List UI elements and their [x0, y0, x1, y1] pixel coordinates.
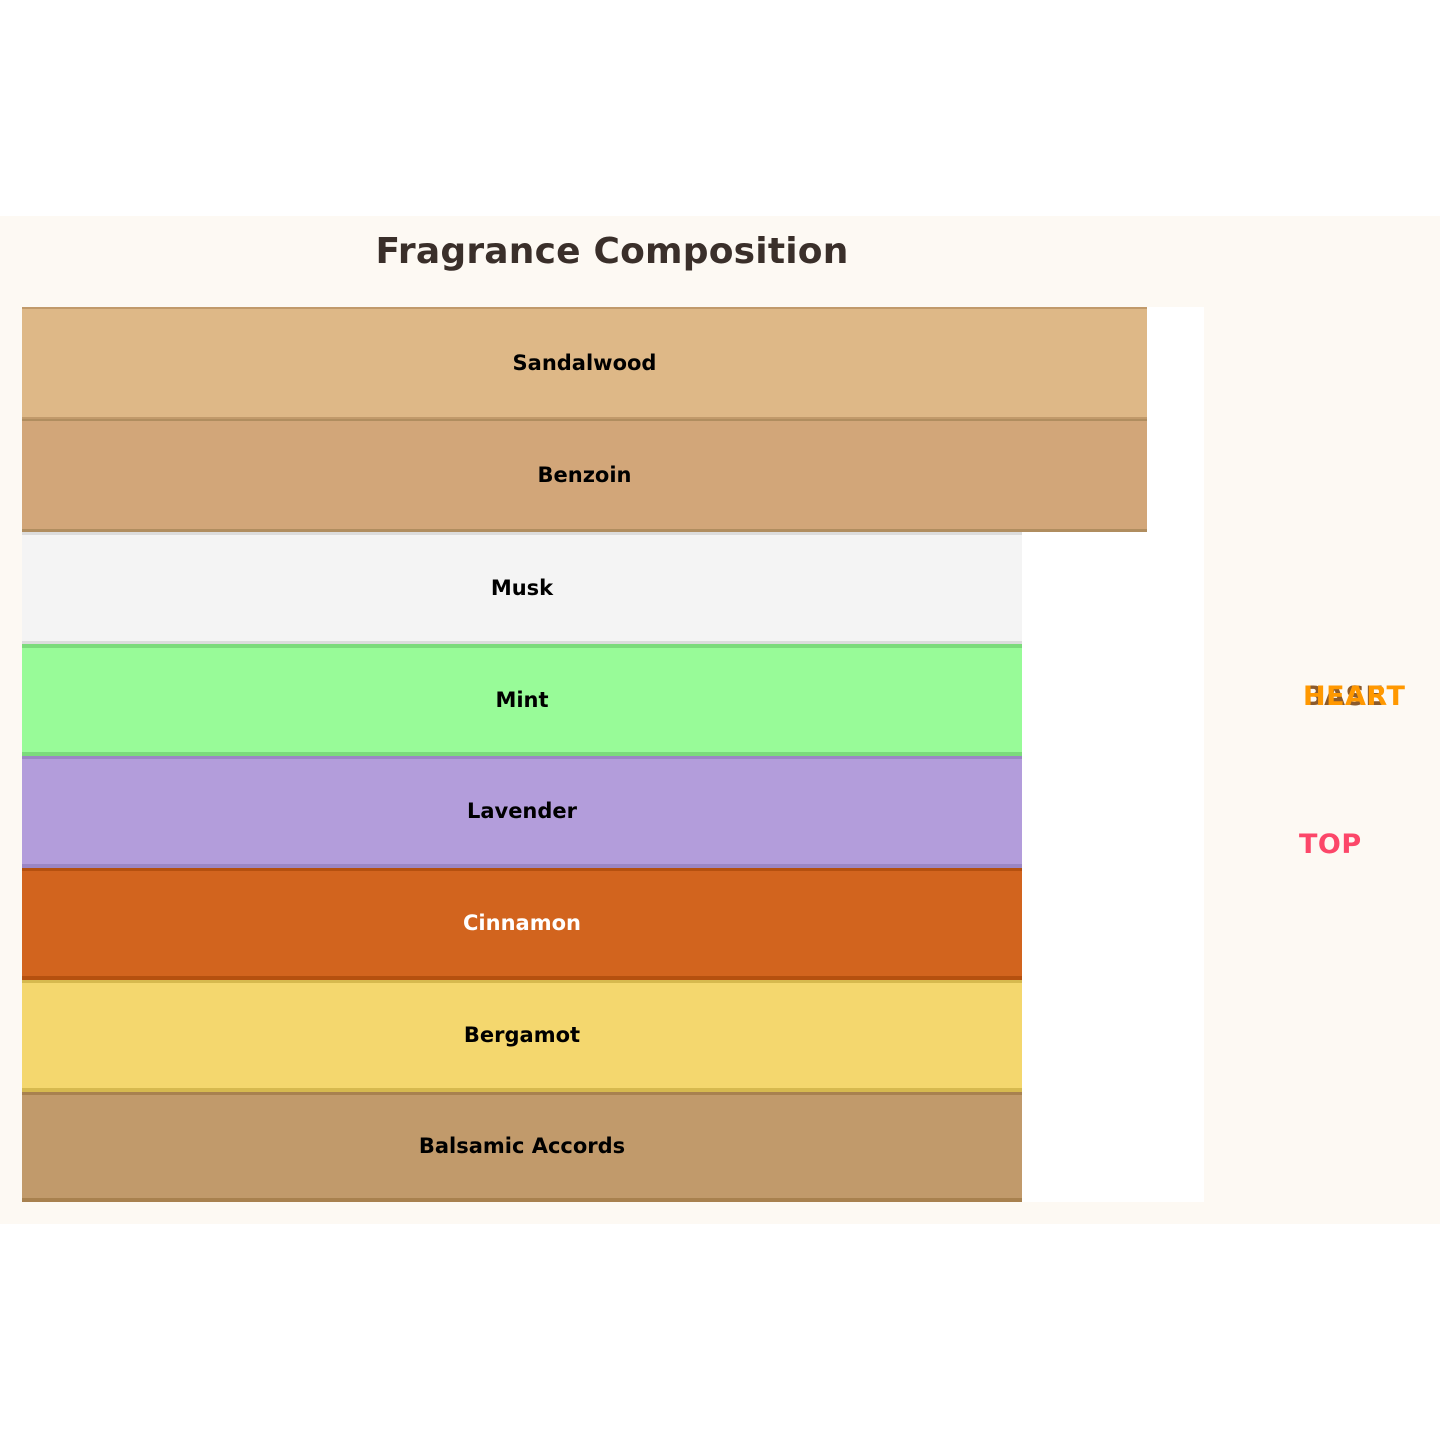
stage-annotation-top: TOP [1299, 829, 1362, 860]
table-row[interactable]: Cinnamon [22, 868, 1022, 980]
bar-label-lavender: Lavender [467, 801, 577, 822]
table-row[interactable]: Sandalwood [22, 307, 1147, 419]
table-row[interactable]: Mint [22, 644, 1022, 756]
bar-label-bergamot: Bergamot [464, 1025, 580, 1046]
bar-label-musk: Musk [491, 578, 553, 599]
table-row[interactable]: Balsamic Accords [22, 1092, 1022, 1202]
fragrance-composition-chart: Fragrance Composition Sandalwood Benzoin… [0, 0, 1440, 1440]
table-row[interactable]: Bergamot [22, 980, 1022, 1092]
bar-label-mint: Mint [495, 690, 548, 711]
bar-label-benzoin: Benzoin [538, 465, 632, 486]
bar-label-balsamic-accords: Balsamic Accords [419, 1136, 625, 1157]
page-title: Fragrance Composition [0, 231, 1224, 272]
table-row[interactable]: Lavender [22, 756, 1022, 868]
stage-annotation-heart: HEART [1303, 681, 1405, 712]
plot-area: Sandalwood Benzoin Musk Mint Lavender Ci… [22, 307, 1204, 1202]
table-row[interactable]: Musk [22, 532, 1022, 644]
bar-label-cinnamon: Cinnamon [463, 913, 581, 934]
table-row[interactable]: Benzoin [22, 419, 1147, 532]
bar-label-sandalwood: Sandalwood [513, 353, 657, 374]
